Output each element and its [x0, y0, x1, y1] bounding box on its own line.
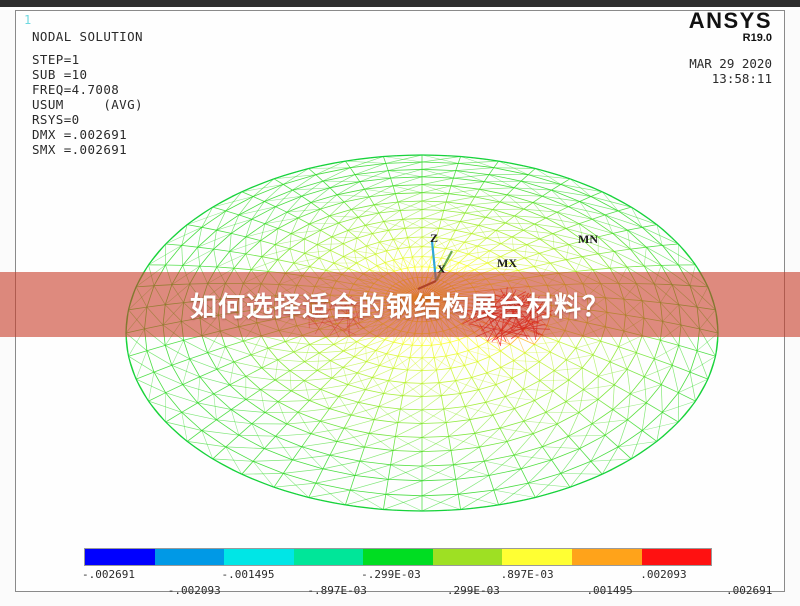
- tick-label-top-3: .897E-03: [501, 568, 554, 581]
- color-band-8: [642, 549, 712, 565]
- ansys-screenshot: 1 NODAL SOLUTION STEP=1 SUB =10 FREQ=4.7…: [0, 0, 800, 606]
- annotation-z: Z: [430, 231, 438, 246]
- color-band-1: [155, 549, 225, 565]
- color-band-2: [224, 549, 294, 565]
- title-bar: [0, 0, 800, 7]
- contour-tick-labels: -.002691-.001495-.299E-03.897E-03.002093…: [0, 568, 800, 600]
- color-band-6: [502, 549, 572, 565]
- overlay-banner: 如何选择适合的钢结构展台材料？: [0, 272, 800, 337]
- color-band-0: [85, 549, 155, 565]
- tick-label-bottom-3: .001495: [586, 584, 632, 597]
- tick-label-top-4: .002093: [640, 568, 686, 581]
- color-band-5: [433, 549, 503, 565]
- annotation-mn: MN: [578, 232, 598, 247]
- tick-label-bottom-0: -.002093: [168, 584, 221, 597]
- color-band-4: [363, 549, 433, 565]
- tick-label-top-2: -.299E-03: [361, 568, 421, 581]
- color-band-7: [572, 549, 642, 565]
- tick-label-bottom-1: -.897E-03: [307, 584, 367, 597]
- tick-label-bottom-4: .002691: [726, 584, 772, 597]
- color-band-3: [294, 549, 364, 565]
- overlay-banner-text: 如何选择适合的钢结构展台材料？: [190, 285, 610, 324]
- tick-label-top-0: -.002691: [82, 568, 135, 581]
- tick-label-bottom-2: .299E-03: [447, 584, 500, 597]
- contour-color-bar: [84, 548, 712, 566]
- annotation-mx: MX: [497, 256, 517, 271]
- tick-label-top-1: -.001495: [222, 568, 275, 581]
